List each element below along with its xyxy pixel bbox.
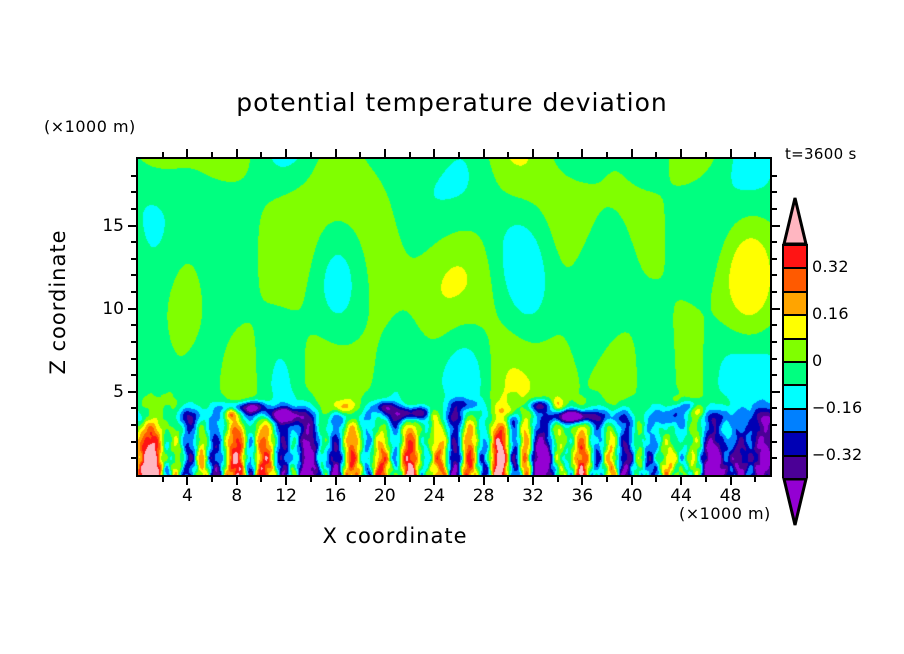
y-tick-label-15: 15 [74, 216, 124, 236]
x-tick-10 [260, 475, 262, 482]
x-tick-top-48 [730, 149, 732, 159]
colorbar-band-9 [784, 457, 806, 480]
x-tick-38 [606, 475, 608, 482]
y-axis-units-label: (×1000 m) [44, 117, 136, 136]
x-tick-4 [186, 475, 188, 485]
colorbar-band-4 [784, 340, 806, 363]
colorbar-label-4: −0.32 [812, 445, 863, 464]
y-tick-right-14 [770, 241, 777, 243]
x-tick-18 [359, 475, 361, 482]
y-tick-right-6 [770, 374, 777, 376]
x-tick-top-8 [236, 149, 238, 159]
y-tick-right-13 [770, 258, 777, 260]
x-tick-top-10 [260, 152, 262, 159]
y-tick-6 [131, 374, 138, 376]
x-tick-34 [557, 475, 559, 482]
x-axis-units-label: (×1000 m) [679, 504, 771, 523]
x-tick-26 [458, 475, 460, 482]
colorbar-band-0 [784, 246, 806, 269]
x-tick-top-30 [507, 152, 509, 159]
colorbar-label-1: 0.16 [812, 304, 849, 323]
x-tick-top-12 [285, 149, 287, 159]
time-annotation: t=3600 s [785, 145, 857, 163]
y-tick-7 [131, 358, 138, 360]
colorbar-over-arrow [782, 196, 808, 244]
colorbar-label-2: 0 [812, 351, 822, 370]
y-tick-right-8 [770, 341, 777, 343]
x-tick-top-34 [557, 152, 559, 159]
x-tick-6 [211, 475, 213, 482]
x-tick-top-36 [581, 149, 583, 159]
colorbar-band-7 [784, 410, 806, 433]
x-tick-40 [631, 475, 633, 485]
x-tick-top-6 [211, 152, 213, 159]
y-tick-right-16 [770, 208, 777, 210]
x-tick-50 [754, 475, 756, 482]
x-tick-top-2 [162, 152, 164, 159]
colorbar-label-0: 0.32 [812, 257, 849, 276]
y-tick-5 [128, 391, 138, 393]
y-tick-16 [131, 208, 138, 210]
contour-field [138, 159, 770, 475]
colorbar[interactable]: 0.320.160−0.16−0.32 [782, 196, 808, 526]
x-tick-top-24 [433, 149, 435, 159]
page-title: potential temperature deviation [0, 88, 904, 117]
x-tick-top-40 [631, 149, 633, 159]
y-tick-right-17 [770, 191, 777, 193]
x-tick-46 [705, 475, 707, 482]
colorbar-segments [782, 244, 808, 478]
x-tick-top-42 [655, 152, 657, 159]
x-tick-14 [310, 475, 312, 482]
x-tick-2 [162, 475, 164, 482]
y-tick-13 [131, 258, 138, 260]
y-tick-right-9 [770, 324, 777, 326]
y-tick-right-7 [770, 358, 777, 360]
x-axis-title: X coordinate [0, 524, 790, 548]
y-tick-right-12 [770, 274, 777, 276]
y-tick-right-3 [770, 424, 777, 426]
y-tick-right-11 [770, 291, 777, 293]
x-tick-48 [730, 475, 732, 485]
x-tick-12 [285, 475, 287, 485]
x-tick-top-38 [606, 152, 608, 159]
y-tick-1 [131, 457, 138, 459]
colorbar-band-2 [784, 293, 806, 316]
colorbar-band-1 [784, 269, 806, 292]
x-tick-30 [507, 475, 509, 482]
y-tick-right-4 [770, 407, 777, 409]
x-tick-8 [236, 475, 238, 485]
x-tick-label-48: 48 [701, 486, 761, 506]
y-tick-right-10 [770, 308, 780, 310]
x-tick-top-16 [335, 149, 337, 159]
y-tick-9 [131, 324, 138, 326]
x-tick-top-28 [483, 149, 485, 159]
y-tick-label-10: 10 [74, 299, 124, 319]
y-tick-8 [131, 341, 138, 343]
x-tick-20 [384, 475, 386, 485]
colorbar-band-3 [784, 316, 806, 339]
y-tick-17 [131, 191, 138, 193]
colorbar-label-3: −0.16 [812, 398, 863, 417]
x-tick-44 [680, 475, 682, 485]
colorbar-band-8 [784, 433, 806, 456]
y-tick-2 [131, 441, 138, 443]
x-tick-top-50 [754, 152, 756, 159]
colorbar-under-arrow [782, 478, 808, 526]
x-tick-top-18 [359, 152, 361, 159]
y-tick-label-5: 5 [74, 382, 124, 402]
x-tick-32 [532, 475, 534, 485]
x-tick-top-22 [409, 152, 411, 159]
y-tick-4 [131, 407, 138, 409]
x-tick-top-46 [705, 152, 707, 159]
y-tick-right-15 [770, 225, 780, 227]
y-tick-12 [131, 274, 138, 276]
y-tick-15 [128, 225, 138, 227]
x-tick-36 [581, 475, 583, 485]
x-tick-24 [433, 475, 435, 485]
x-tick-28 [483, 475, 485, 485]
figure-canvas: potential temperature deviation (×1000 m… [0, 0, 904, 654]
x-tick-top-32 [532, 149, 534, 159]
y-tick-3 [131, 424, 138, 426]
x-tick-42 [655, 475, 657, 482]
y-axis-title: Z coordinate [46, 212, 70, 392]
x-tick-top-44 [680, 149, 682, 159]
y-tick-18 [131, 175, 138, 177]
x-tick-top-20 [384, 149, 386, 159]
x-tick-top-4 [186, 149, 188, 159]
x-tick-top-14 [310, 152, 312, 159]
y-tick-right-5 [770, 391, 780, 393]
y-tick-11 [131, 291, 138, 293]
y-tick-14 [131, 241, 138, 243]
colorbar-band-5 [784, 363, 806, 386]
x-tick-22 [409, 475, 411, 482]
y-tick-right-1 [770, 457, 777, 459]
colorbar-band-6 [784, 386, 806, 409]
x-tick-top-26 [458, 152, 460, 159]
x-tick-16 [335, 475, 337, 485]
contour-plot-area[interactable] [136, 157, 772, 477]
y-tick-right-18 [770, 175, 777, 177]
y-tick-right-2 [770, 441, 777, 443]
y-tick-10 [128, 308, 138, 310]
